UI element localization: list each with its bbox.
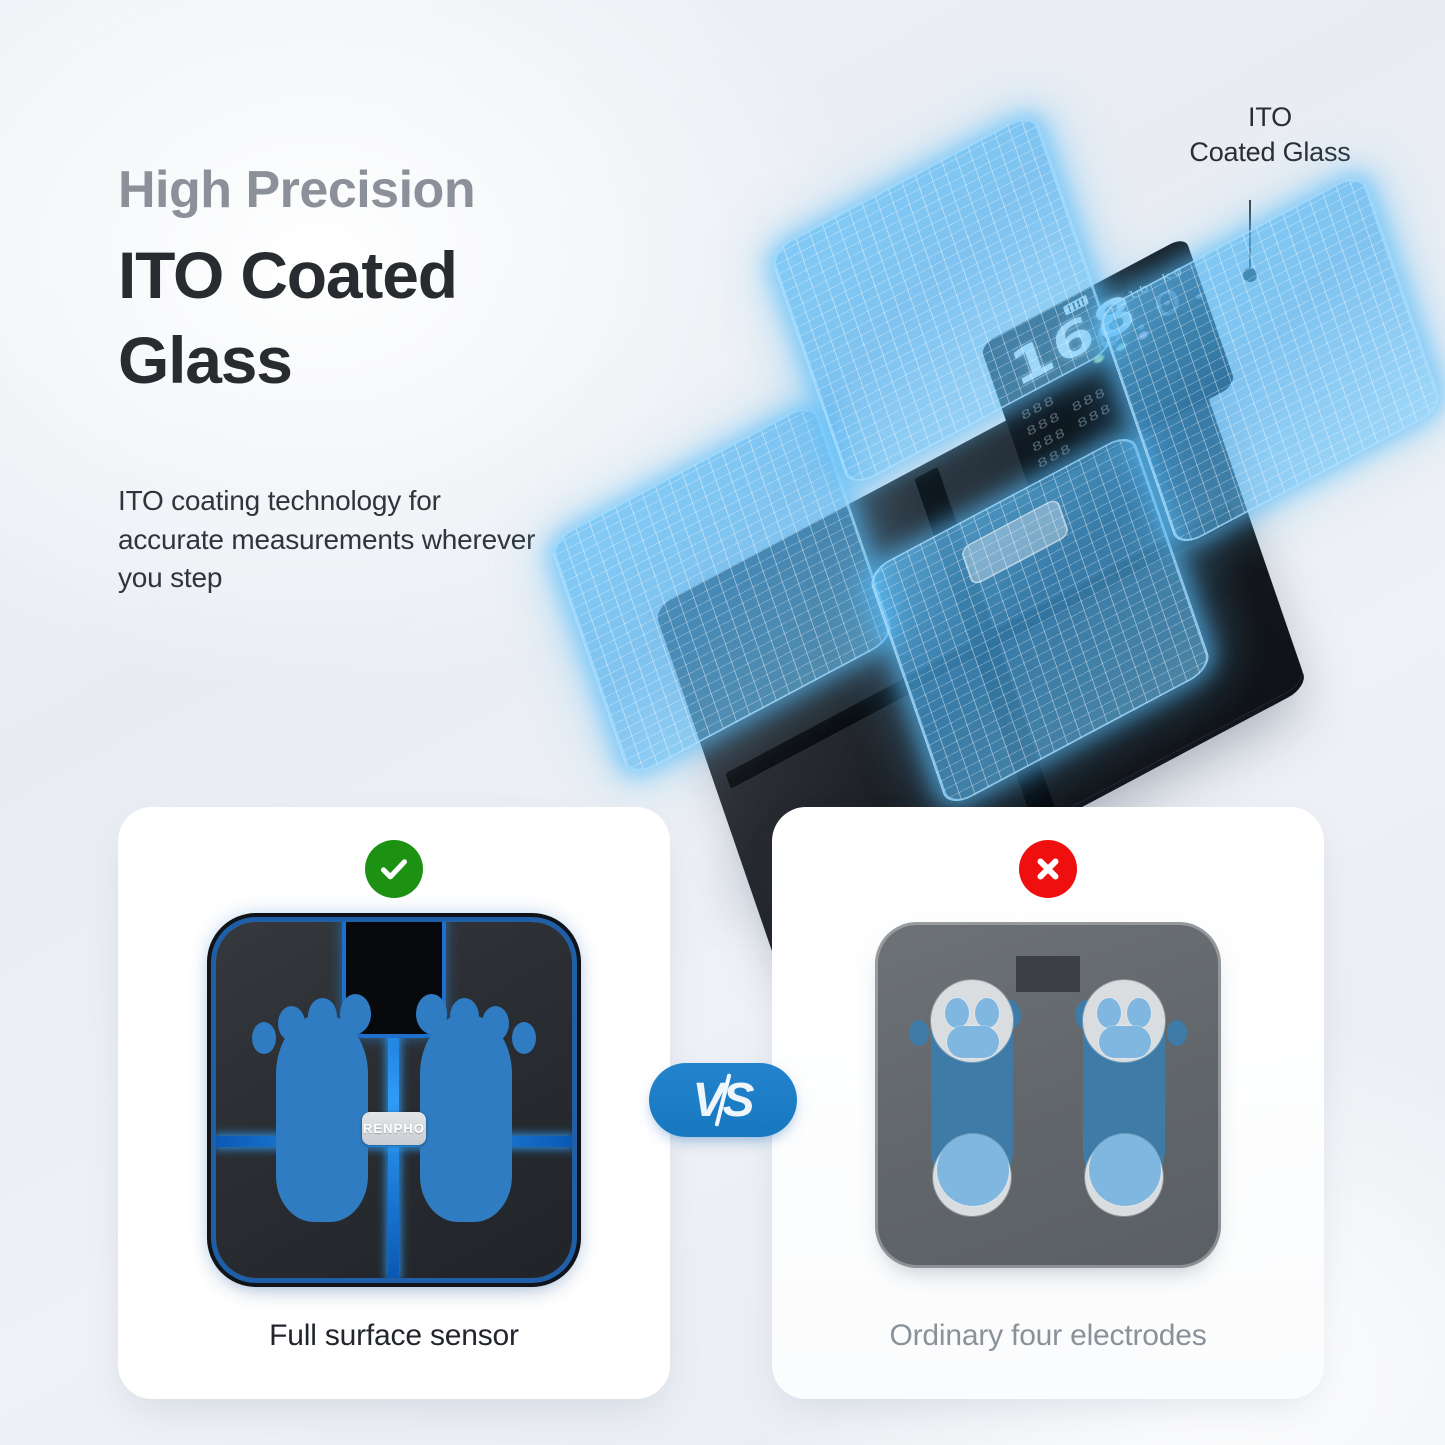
- footprint-right: [420, 1014, 512, 1222]
- electrode-contact-right-b: [1127, 998, 1151, 1028]
- electrode-contact-heel-right: [1089, 1134, 1161, 1206]
- product-feature-page: High Precision ITO Coated Glass ITO coat…: [0, 0, 1445, 1445]
- renpho-logo-text: RENPHO: [363, 1121, 425, 1136]
- toe-icon: [909, 1020, 929, 1046]
- vs-badge: VS: [649, 1063, 797, 1137]
- hero-product-scene: 168 st lb kg 0.0.0 888 888 888 888 888 8…: [560, 90, 1420, 810]
- toe-icon: [340, 994, 371, 1034]
- electrode-contact-heel-left: [937, 1134, 1009, 1206]
- toe-icon: [308, 998, 337, 1035]
- x-circle-icon: [1019, 840, 1077, 898]
- comparison-card-full-surface: RENPHO Full surface sensor: [118, 807, 670, 1399]
- ordinary-scale-display: [1016, 956, 1080, 992]
- toe-icon: [278, 1006, 305, 1041]
- toe-icon: [512, 1022, 536, 1054]
- card-caption-left: Full surface sensor: [118, 1319, 670, 1353]
- toe-icon: [1167, 1020, 1187, 1046]
- card-caption-right: Ordinary four electrodes: [772, 1319, 1324, 1353]
- electrode-contact-left-c: [947, 1026, 999, 1058]
- footprint-left: [276, 1014, 368, 1222]
- subcopy-text: ITO coating technology for accurate meas…: [118, 482, 548, 598]
- electrode-contact-right-c: [1099, 1026, 1151, 1058]
- electrode-contact-left-b: [975, 998, 999, 1028]
- renpho-smart-scale-illustration: RENPHO: [216, 922, 572, 1278]
- toe-icon: [252, 1022, 276, 1054]
- electrode-contact-right-a: [1097, 998, 1121, 1028]
- renpho-logo: RENPHO: [362, 1112, 426, 1145]
- comparison-card-ordinary: Ordinary four electrodes: [772, 807, 1324, 1399]
- electrode-contact-left-a: [945, 998, 969, 1028]
- check-circle-icon: [365, 840, 423, 898]
- page-title: ITO Coated Glass: [118, 233, 588, 402]
- ordinary-scale-illustration: [875, 922, 1221, 1268]
